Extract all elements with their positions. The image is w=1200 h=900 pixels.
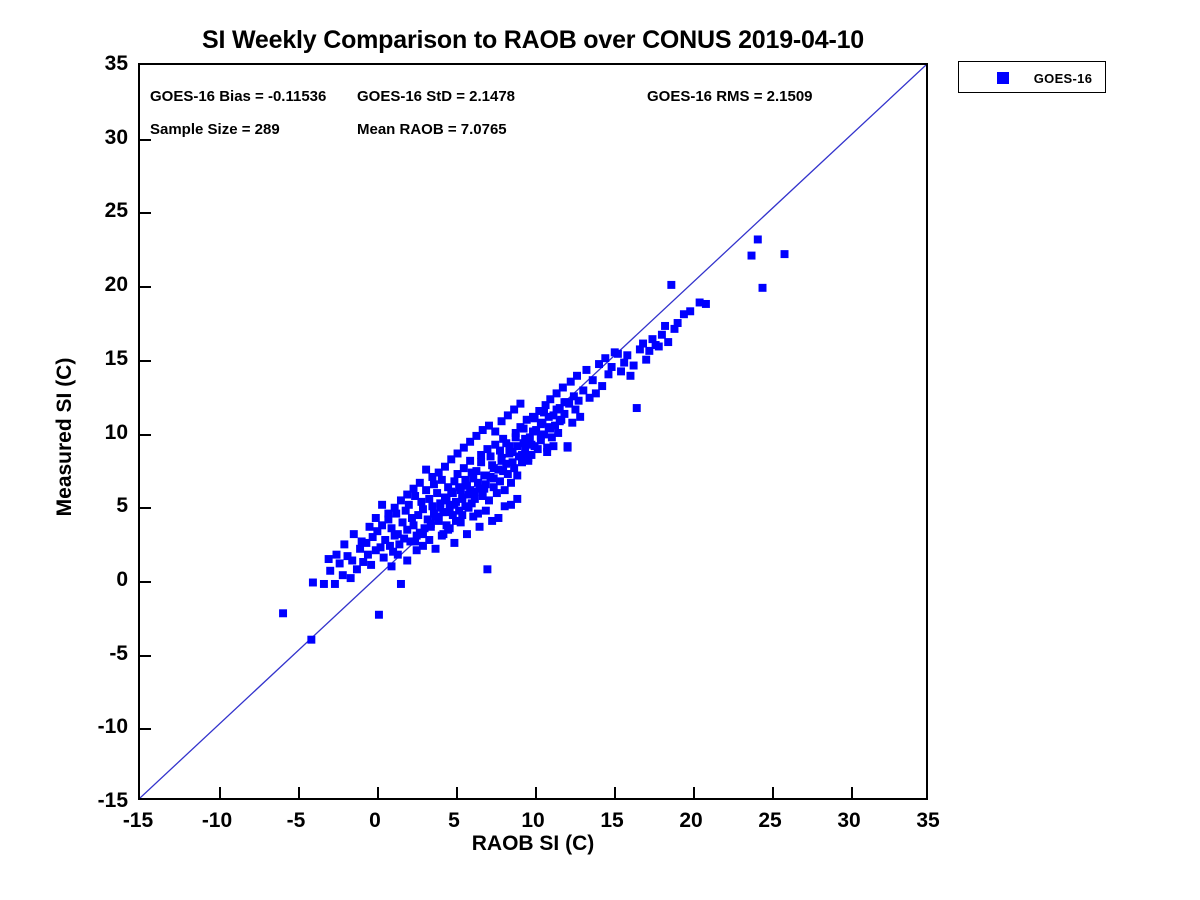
data-point: [540, 408, 548, 416]
data-point: [529, 428, 537, 436]
data-point: [582, 366, 590, 374]
data-point: [452, 517, 460, 525]
data-point: [364, 551, 372, 559]
data-point: [494, 514, 502, 522]
y-tick-mark: [140, 212, 151, 214]
data-point: [450, 539, 458, 547]
data-point: [405, 501, 413, 509]
data-point: [499, 467, 507, 475]
data-point: [422, 466, 430, 474]
data-point: [513, 472, 521, 480]
data-point: [469, 513, 477, 521]
scatter-points-group: [279, 235, 788, 643]
x-tick-mark: [456, 787, 458, 798]
legend-marker-icon: [997, 72, 1009, 84]
data-point: [397, 580, 405, 588]
data-point: [513, 495, 521, 503]
y-tick-mark: [140, 728, 151, 730]
x-tick-mark: [772, 787, 774, 798]
data-point: [482, 472, 490, 480]
data-point: [432, 545, 440, 553]
data-point: [450, 501, 458, 509]
data-point: [422, 486, 430, 494]
data-point: [748, 252, 756, 260]
data-point: [399, 518, 407, 526]
data-point: [333, 551, 341, 559]
data-point: [325, 555, 333, 563]
data-point: [388, 562, 396, 570]
data-point: [543, 448, 551, 456]
stat-std: GOES-16 StD = 2.1478: [357, 89, 515, 104]
data-point: [480, 485, 488, 493]
data-point: [410, 521, 418, 529]
data-point: [471, 495, 479, 503]
data-point: [482, 507, 490, 515]
x-tick-mark: [377, 787, 379, 798]
data-point: [353, 565, 361, 573]
y-axis-title: Measured SI (C): [53, 42, 77, 832]
x-tick-mark: [219, 787, 221, 798]
data-point: [546, 425, 554, 433]
data-point: [664, 338, 672, 346]
data-point: [279, 609, 287, 617]
y-tick-mark: [140, 286, 151, 288]
data-point: [320, 580, 328, 588]
scatter-plot-figure: SI Weekly Comparison to RAOB over CONUS …: [0, 0, 1200, 900]
data-point: [468, 469, 476, 477]
data-point: [781, 250, 789, 258]
data-point: [520, 425, 528, 433]
data-point: [575, 397, 583, 405]
data-point: [428, 473, 436, 481]
data-point: [439, 530, 447, 538]
data-point: [490, 464, 498, 472]
data-point: [380, 554, 388, 562]
data-point: [513, 442, 521, 450]
data-point: [487, 452, 495, 460]
data-point: [509, 458, 517, 466]
data-point: [537, 432, 545, 440]
data-point: [463, 530, 471, 538]
data-point: [443, 496, 451, 504]
data-point: [359, 558, 367, 566]
data-point: [554, 429, 562, 437]
data-point: [553, 406, 561, 414]
data-point: [358, 537, 366, 545]
data-point: [419, 530, 427, 538]
data-point: [403, 557, 411, 565]
x-tick-mark: [851, 787, 853, 798]
data-point: [394, 551, 402, 559]
data-point: [331, 580, 339, 588]
data-point: [661, 322, 669, 330]
data-point: [347, 574, 355, 582]
data-point: [630, 362, 638, 370]
data-point: [340, 540, 348, 548]
x-tick-mark: [535, 787, 537, 798]
data-point: [411, 537, 419, 545]
data-point: [430, 480, 438, 488]
data-point: [375, 611, 383, 619]
data-point: [326, 567, 334, 575]
data-point: [617, 367, 625, 375]
stat-rms: GOES-16 RMS = 2.1509: [647, 89, 813, 104]
x-tick-mark: [693, 787, 695, 798]
data-point: [466, 486, 474, 494]
data-point: [339, 571, 347, 579]
data-point: [336, 559, 344, 567]
data-point: [427, 523, 435, 531]
data-point: [592, 389, 600, 397]
data-point: [366, 523, 374, 531]
data-point: [598, 382, 606, 390]
data-point: [483, 565, 491, 573]
data-point: [501, 486, 509, 494]
data-point: [438, 476, 446, 484]
x-axis-title: RAOB SI (C): [138, 832, 928, 856]
data-point: [491, 428, 499, 436]
data-point: [465, 504, 473, 512]
x-tick-label: 35: [868, 810, 988, 831]
plot-area: [138, 63, 928, 800]
y-tick-mark: [140, 360, 151, 362]
data-point: [433, 489, 441, 497]
data-point: [458, 493, 466, 501]
y-tick-mark: [140, 139, 151, 141]
data-point: [493, 489, 501, 497]
data-point: [754, 235, 762, 243]
data-point: [601, 354, 609, 362]
data-point: [441, 463, 449, 471]
stat-sample-size: Sample Size = 289: [150, 122, 280, 137]
data-point: [367, 561, 375, 569]
data-point: [350, 530, 358, 538]
data-point: [372, 514, 380, 522]
data-point: [560, 410, 568, 418]
stat-bias: GOES-16 Bias = -0.11536: [150, 89, 326, 104]
legend: GOES-16: [958, 61, 1106, 93]
data-point: [498, 457, 506, 465]
data-point: [476, 523, 484, 531]
data-point: [485, 496, 493, 504]
data-point: [686, 307, 694, 315]
data-point: [425, 495, 433, 503]
data-point: [507, 479, 515, 487]
data-point: [527, 441, 535, 449]
data-point: [564, 444, 572, 452]
data-point: [309, 579, 317, 587]
data-point: [626, 372, 634, 380]
data-point: [477, 458, 485, 466]
data-point: [461, 476, 469, 484]
data-point: [419, 505, 427, 513]
data-point: [568, 419, 576, 427]
plot-canvas: [140, 65, 926, 798]
x-tick-mark: [614, 787, 616, 798]
data-point: [502, 439, 510, 447]
data-point: [608, 363, 616, 371]
x-tick-mark: [298, 787, 300, 798]
data-point: [604, 370, 612, 378]
data-point: [531, 414, 539, 422]
data-point: [642, 356, 650, 364]
data-point: [573, 372, 581, 380]
data-point: [759, 284, 767, 292]
y-tick-mark: [140, 581, 151, 583]
data-point: [460, 464, 468, 472]
y-tick-mark: [140, 507, 151, 509]
data-point: [496, 447, 504, 455]
data-point: [623, 351, 631, 359]
data-point: [655, 342, 663, 350]
data-point: [417, 498, 425, 506]
data-point: [377, 543, 385, 551]
data-point: [378, 501, 386, 509]
data-point: [483, 445, 491, 453]
stat-mean-raob: Mean RAOB = 7.0765: [357, 122, 507, 137]
y-tick-mark: [140, 655, 151, 657]
data-point: [639, 340, 647, 348]
data-point: [559, 384, 567, 392]
data-point: [702, 300, 710, 308]
data-point: [524, 454, 532, 462]
data-point: [556, 417, 564, 425]
data-point: [428, 502, 436, 510]
data-point: [674, 319, 682, 327]
y-tick-mark: [140, 434, 151, 436]
data-point: [505, 450, 513, 458]
data-point: [490, 474, 498, 482]
data-point: [397, 496, 405, 504]
page-title: SI Weekly Comparison to RAOB over CONUS …: [138, 26, 928, 55]
data-point: [348, 557, 356, 565]
legend-item-label: GOES-16: [1025, 71, 1101, 86]
data-point: [466, 457, 474, 465]
data-point: [307, 636, 315, 644]
data-point: [449, 489, 457, 497]
data-point: [614, 350, 622, 358]
data-point: [579, 386, 587, 394]
data-point: [633, 404, 641, 412]
data-point: [560, 398, 568, 406]
data-point: [384, 510, 392, 518]
data-point: [576, 413, 584, 421]
data-point: [589, 376, 597, 384]
data-point: [667, 281, 675, 289]
data-point: [620, 359, 628, 367]
data-point: [516, 400, 524, 408]
data-point: [512, 433, 520, 441]
data-point: [571, 406, 579, 414]
data-point: [430, 510, 438, 518]
data-point: [658, 331, 666, 339]
